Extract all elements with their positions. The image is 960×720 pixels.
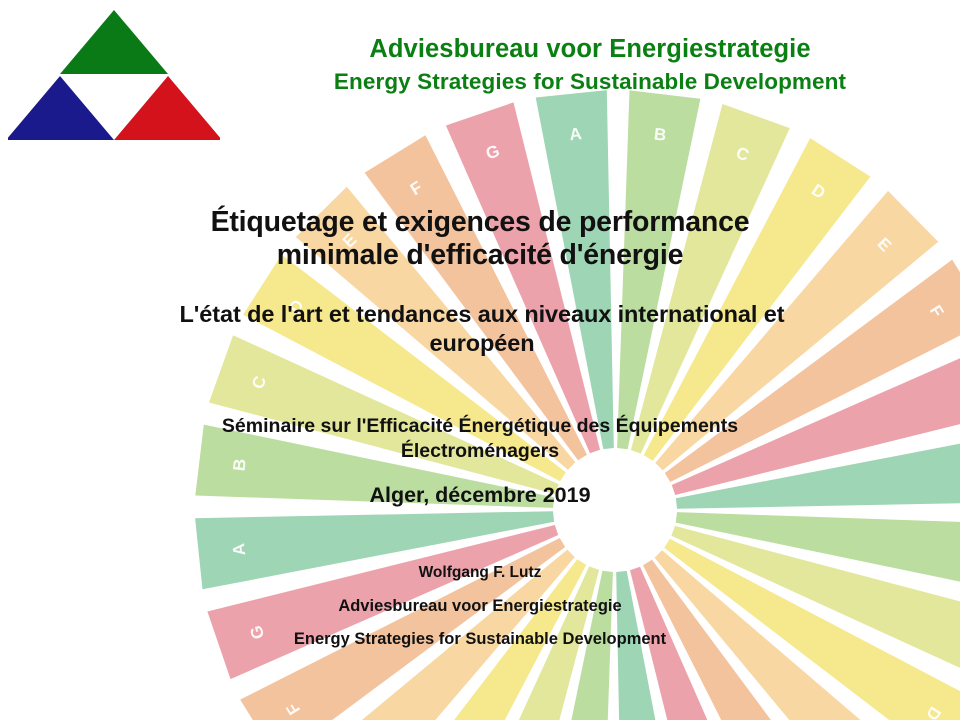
page-subtitle: L'état de l'art et tendances aux niveaux… xyxy=(48,300,916,358)
subtitle-line-2: européen xyxy=(48,329,916,358)
event-name: Séminaire sur l'Efficacité Énergétique d… xyxy=(60,414,900,464)
event-place-date: Alger, décembre 2019 xyxy=(60,482,900,509)
subtitle-line-1: L'état de l'art et tendances aux niveaux… xyxy=(48,300,916,329)
author-name: Wolfgang F. Lutz xyxy=(110,562,850,584)
author-organisation-en: Energy Strategies for Sustainable Develo… xyxy=(110,628,850,650)
author-organisation-nl: Adviesbureau voor Energiestrategie xyxy=(110,595,850,617)
place-date-text: Alger, décembre 2019 xyxy=(60,482,900,509)
title-line-2: minimale d'efficacité d'énergie xyxy=(70,239,890,272)
page-title: Étiquetage et exigences de performance m… xyxy=(70,206,890,272)
seminar-line-1: Séminaire sur l'Efficacité Énergétique d… xyxy=(60,414,900,439)
title-line-1: Étiquetage et exigences de performance xyxy=(70,206,890,239)
presentation-slide: ABCDEFGABCDEFGABCDEFGABCDEFG Adviesburea… xyxy=(0,0,960,720)
slide-content: Étiquetage et exigences de performance m… xyxy=(0,0,960,720)
seminar-line-2: Électroménagers xyxy=(60,439,900,464)
author-block: Wolfgang F. Lutz Adviesbureau voor Energ… xyxy=(110,562,850,650)
